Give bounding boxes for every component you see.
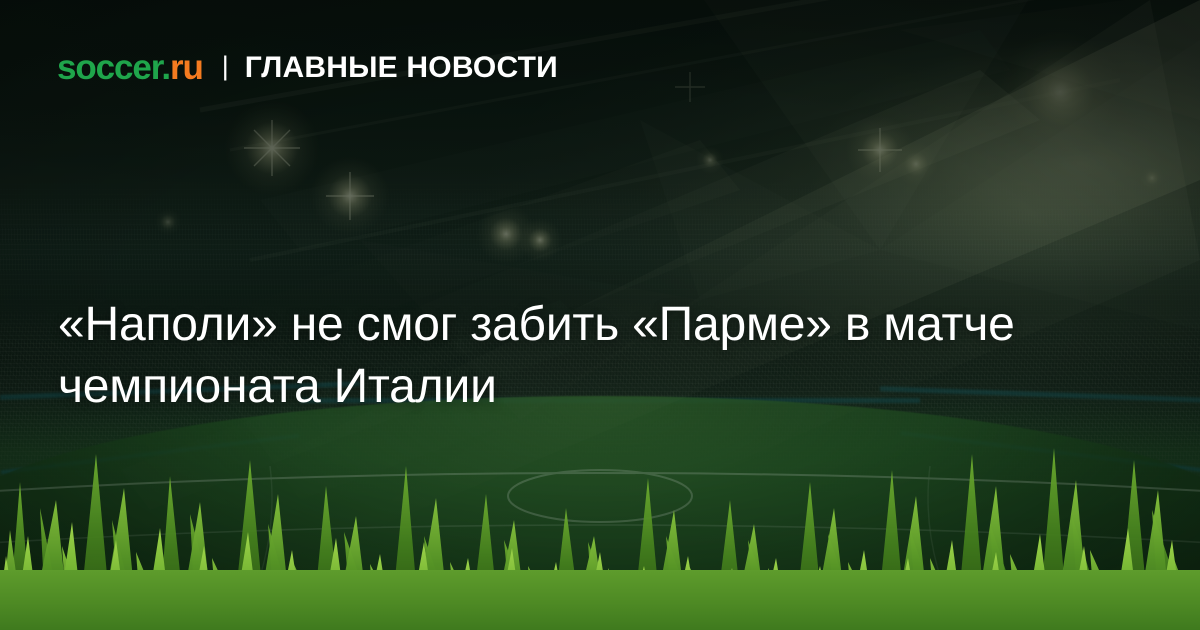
header-separator: | [222,53,229,80]
page-title: «Наполи» не смог забить «Парме» в матче … [58,294,1138,418]
site-logo[interactable]: soccer.ru [57,50,203,85]
logo-dot: . [161,48,170,87]
foreground-grass [0,390,1200,630]
logo-name: soccer [57,48,161,87]
site-header: soccer.ru | ГЛАВНЫЕ НОВОСТИ [57,50,558,85]
share-card: soccer.ru | ГЛАВНЫЕ НОВОСТИ «Наполи» не … [0,0,1200,630]
header-section-title: ГЛАВНЫЕ НОВОСТИ [245,53,558,83]
grass-base-fill [0,570,1200,630]
logo-tld: ru [170,48,203,87]
